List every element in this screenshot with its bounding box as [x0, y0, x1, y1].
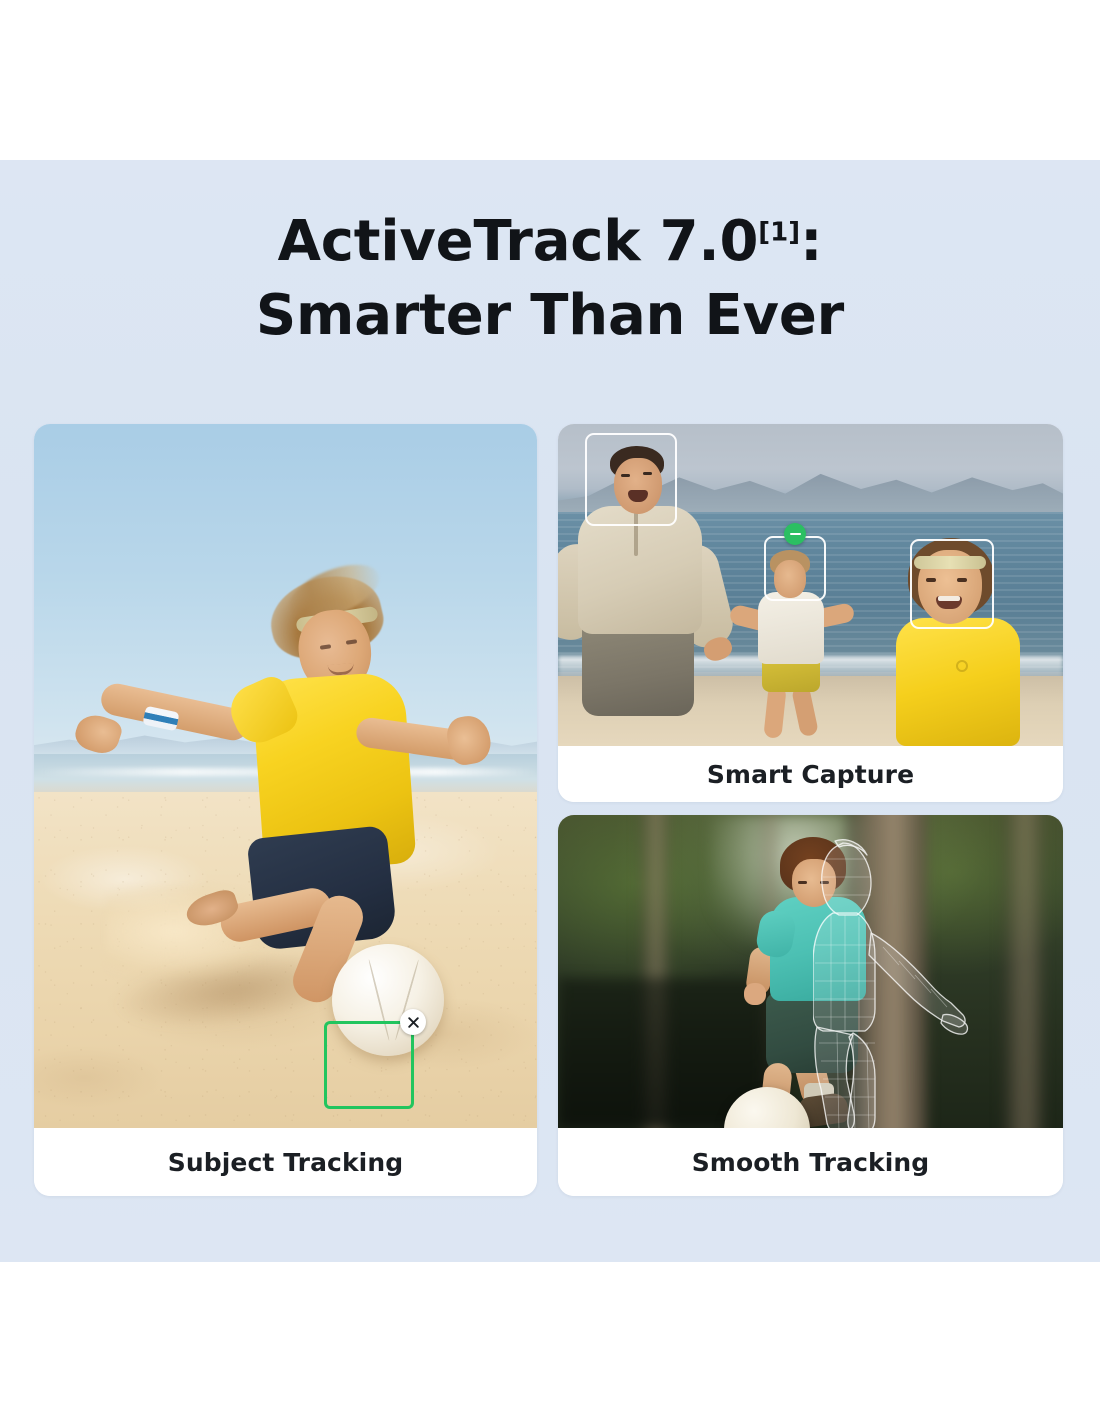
page-title: ActiveTrack 7.0[1]: Smarter Than Ever: [0, 205, 1100, 354]
older-child-shirt: [896, 618, 1020, 746]
tracking-edge-left: [324, 1043, 327, 1087]
tracking-edge-bottom: [346, 1106, 392, 1109]
subject-tracking-photo: [34, 424, 537, 1128]
selected-subject-badge[interactable]: [784, 523, 806, 545]
smooth-tracking-photo: [558, 815, 1063, 1128]
beach-scene: [34, 424, 537, 1128]
face-detect-box-older-child[interactable]: [910, 539, 994, 629]
child-subject: [34, 424, 537, 1128]
tracking-corner-bottom-left: [324, 1083, 350, 1109]
card-label-subject-tracking: Subject Tracking: [34, 1128, 537, 1196]
boy-subject: [558, 815, 1063, 1128]
tracking-bracket[interactable]: [324, 1021, 414, 1109]
tracking-corner-bottom-right: [388, 1083, 414, 1109]
page-title-line2: Smarter Than Ever: [0, 279, 1100, 353]
promo-page: ActiveTrack 7.0[1]: Smarter Than Ever: [0, 0, 1100, 1422]
park-scene: [558, 815, 1063, 1128]
father-shorts: [582, 620, 694, 716]
smart-capture-photo: [558, 424, 1063, 746]
older-child-shirt-logo: [956, 660, 968, 672]
child-hand-left: [72, 710, 125, 758]
card-label-smart-capture: Smart Capture: [558, 746, 1063, 802]
minus-icon: [790, 533, 801, 536]
footnote-marker: [1]: [758, 217, 800, 247]
boy-eye-left: [798, 881, 807, 884]
face-detect-box-father[interactable]: [585, 433, 677, 526]
tracking-corner-top-left: [324, 1021, 350, 1047]
face-detect-box-middle-child[interactable]: [764, 536, 826, 601]
middle-child-shirt: [758, 592, 824, 664]
tracking-edge-right: [411, 1043, 414, 1087]
card-label-smooth-tracking: Smooth Tracking: [558, 1128, 1063, 1196]
subject-ghost-wireframe: [813, 837, 973, 1128]
page-title-line1: ActiveTrack 7.0: [278, 209, 759, 274]
page-title-colon: :: [800, 209, 822, 274]
card-smooth-tracking[interactable]: Smooth Tracking: [558, 815, 1063, 1196]
card-subject-tracking[interactable]: Subject Tracking: [34, 424, 537, 1196]
tracking-edge-top: [346, 1021, 392, 1024]
boy-hand: [744, 983, 766, 1005]
family-beach-scene: [558, 424, 1063, 746]
close-icon[interactable]: [400, 1009, 426, 1035]
card-smart-capture[interactable]: Smart Capture: [558, 424, 1063, 802]
